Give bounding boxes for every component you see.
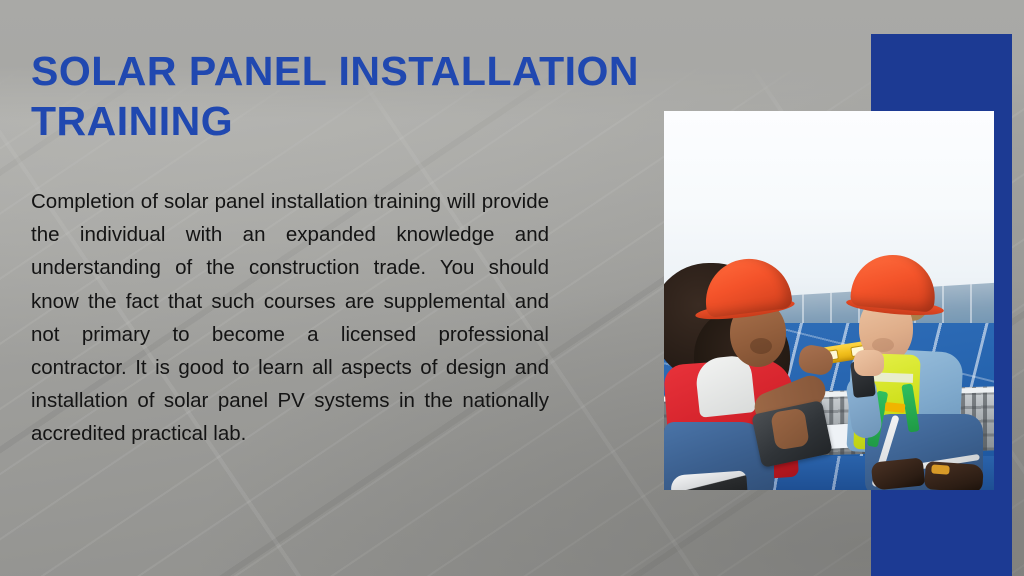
photo-man-boot-left — [871, 457, 926, 490]
photo-harness-buckle — [885, 402, 906, 413]
slide-body-text: Completion of solar panel installation t… — [31, 185, 549, 451]
photo-woman-tablet-hand — [770, 408, 810, 451]
photo-man-boot-right — [924, 461, 984, 490]
slide-title: SOLAR PANEL INSTALLATION TRAINING — [31, 46, 656, 147]
slide-body-paragraph: Completion of solar panel installation t… — [31, 185, 549, 451]
slide-canvas: SOLAR PANEL INSTALLATION TRAINING Comple… — [0, 0, 1024, 576]
technicians-photo — [664, 111, 994, 490]
photo-man-hand — [854, 350, 884, 376]
